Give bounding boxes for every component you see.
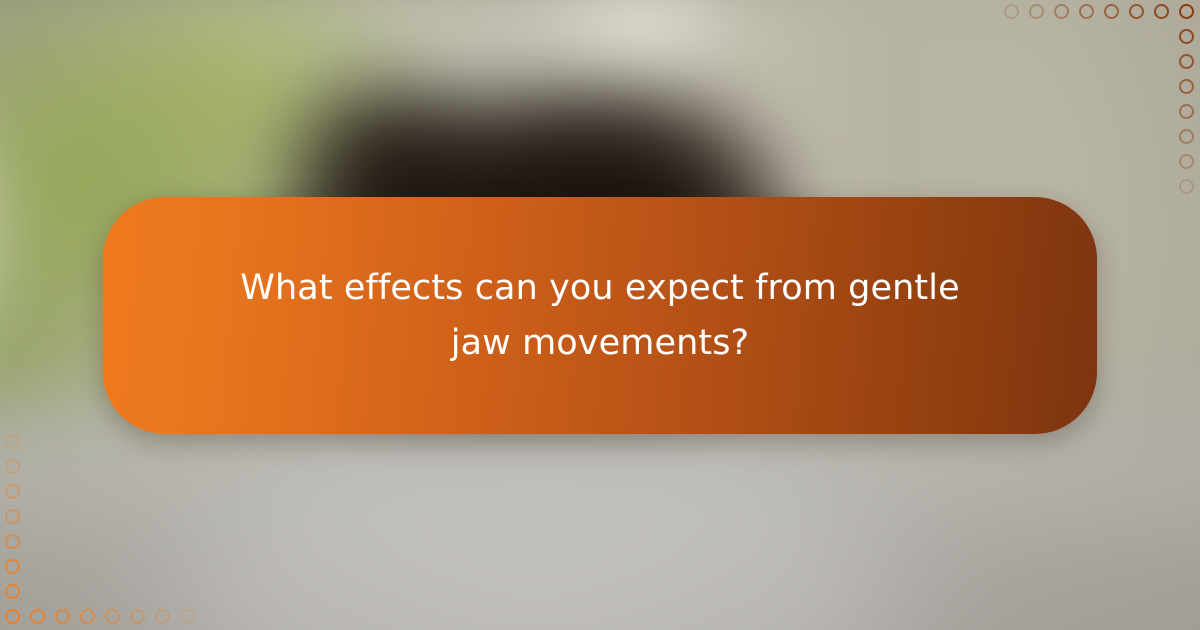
decorative-ring (1104, 4, 1119, 19)
question-card-canvas: What effects can you expect from gentle … (0, 0, 1200, 630)
decorative-ring (1179, 129, 1194, 144)
decorative-ring (55, 609, 70, 624)
decorative-ring (5, 459, 20, 474)
decorative-ring (30, 609, 45, 624)
decorative-ring (1054, 4, 1069, 19)
decorative-ring (1179, 54, 1194, 69)
decorative-ring (5, 434, 20, 449)
decorative-ring (1154, 4, 1169, 19)
question-card: What effects can you expect from gentle … (103, 197, 1097, 434)
decorative-ring (5, 509, 20, 524)
decorative-ring (80, 609, 95, 624)
decorative-ring (1179, 79, 1194, 94)
decorative-ring (5, 534, 20, 549)
decorative-ring (1129, 4, 1144, 19)
decorative-ring (1029, 4, 1044, 19)
decorative-ring (130, 609, 145, 624)
decorative-ring (5, 484, 20, 499)
decorative-ring (1004, 4, 1019, 19)
decorative-dots-bottom-left (0, 434, 196, 630)
decorative-ring (5, 609, 20, 624)
decorative-ring (1079, 4, 1094, 19)
decorative-ring (1179, 104, 1194, 119)
decorative-ring (1179, 4, 1194, 19)
decorative-ring (180, 609, 195, 624)
decorative-ring (1179, 29, 1194, 44)
decorative-dots-top-right (1004, 0, 1200, 196)
decorative-ring (5, 584, 20, 599)
decorative-ring (5, 559, 20, 574)
decorative-ring (105, 609, 120, 624)
decorative-ring (1179, 154, 1194, 169)
decorative-ring (1179, 179, 1194, 194)
decorative-ring (155, 609, 170, 624)
question-text: What effects can you expect from gentle … (215, 261, 985, 370)
